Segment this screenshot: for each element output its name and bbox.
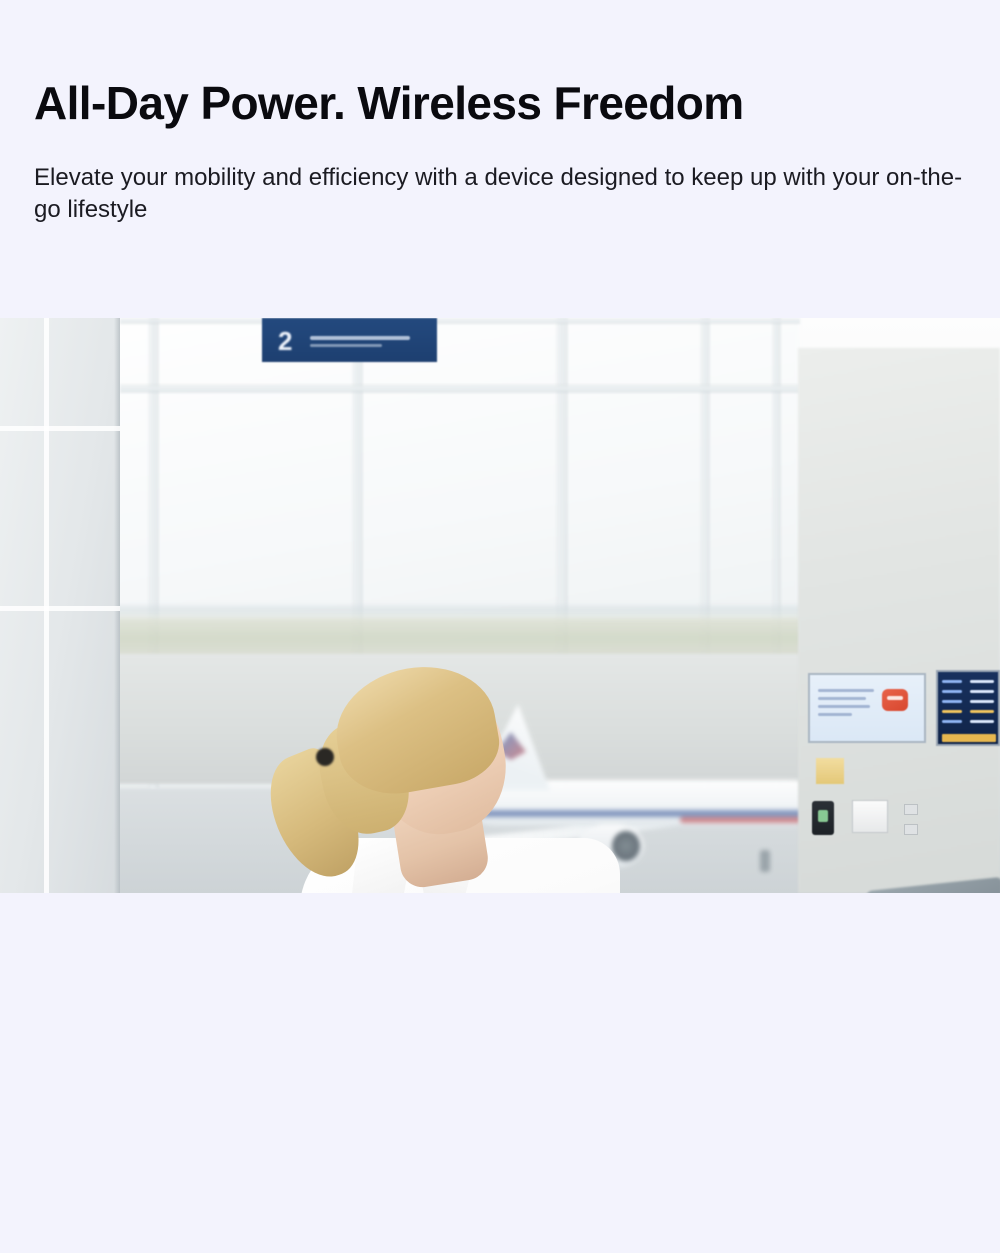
window-mullion [120,318,800,324]
ad-display [808,673,926,743]
gate-sign-number: 2 [278,326,292,357]
flight-information-display [936,670,1000,746]
window-mullion [120,384,800,393]
gate-sign: 2 [262,318,437,362]
wall-device-panel [812,801,834,835]
wall-seam [0,426,120,431]
gate-sign-text [310,336,410,340]
wall-button [904,824,918,835]
ad-display-text [818,689,874,721]
ad-display-logo [882,689,908,711]
wall-button [904,804,918,815]
gate-sign-text [310,344,382,347]
hero-section: All-Day Power. Wireless Freedom Elevate … [0,0,1000,318]
wall-seam [0,606,120,611]
wall-sign-yellow [816,758,844,784]
battery-stats-section: 8H Battery life 5195mAh 4000mAh 30% Batt… [0,893,1000,1253]
wall-outlet-panel [852,800,888,833]
airplane-stripe [470,810,822,817]
page-subtitle: Elevate your mobility and efficiency wit… [34,162,964,226]
hair-tie [316,748,334,766]
tarmac-grass [110,618,810,658]
wall-seam [44,318,49,893]
page-title: All-Day Power. Wireless Freedom [34,79,744,127]
marketing-page: All-Day Power. Wireless Freedom Elevate … [0,0,1000,1253]
hero-photo: 2 [0,318,1000,893]
airplane-landing-gear [760,850,770,872]
